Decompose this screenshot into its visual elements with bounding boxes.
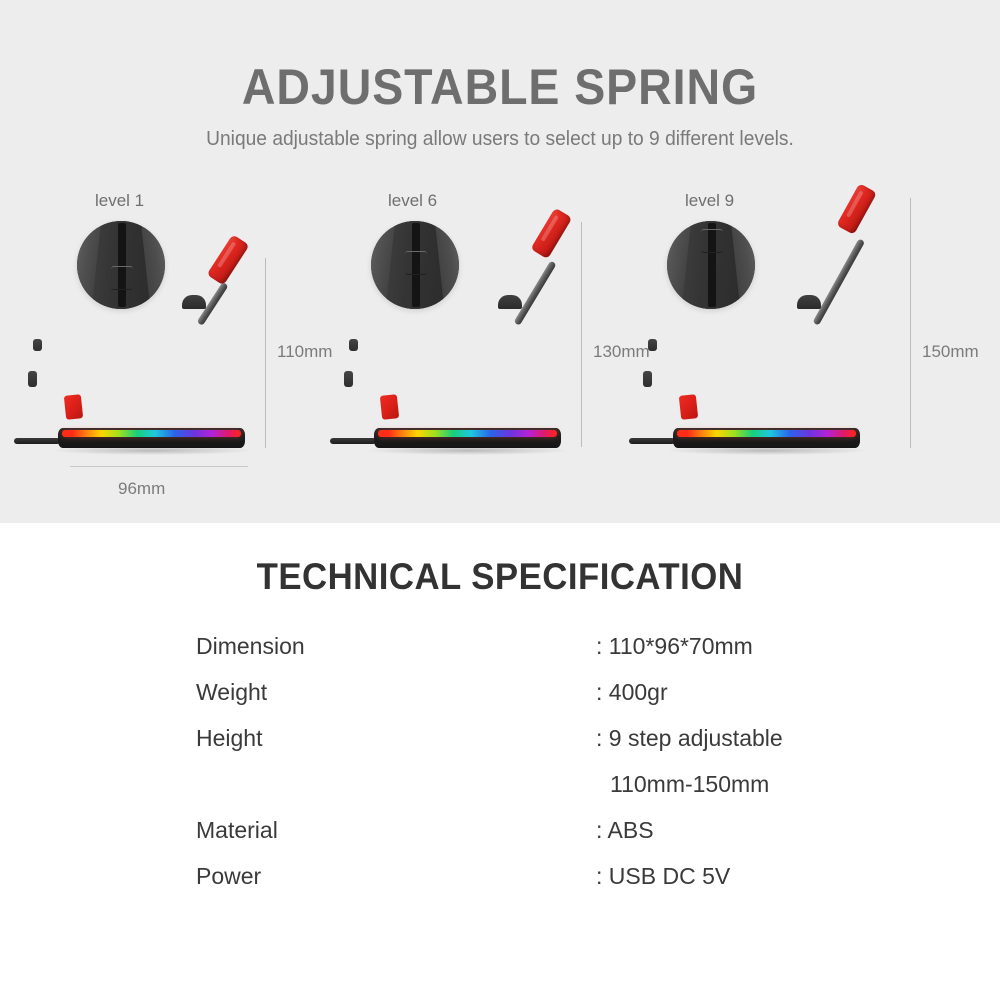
spec-value-dimension: : 110*96*70mm — [596, 633, 753, 660]
spec-row-height: Height : 9 step adjustable — [196, 725, 876, 771]
cone-tip-1 — [182, 295, 206, 309]
spec-section-title: TECHNICAL SPECIFICATION — [30, 556, 970, 598]
cone-tip-6 — [498, 295, 522, 309]
spring-detail-inset-6 — [371, 221, 459, 309]
spring-shaft-9 — [812, 238, 865, 325]
spec-row-power: Power : USB DC 5V — [196, 863, 876, 909]
spec-row-weight: Weight : 400gr — [196, 679, 876, 725]
spec-label-material: Material — [196, 817, 596, 844]
infographic-page: ADJUSTABLE SPRING Unique adjustable spri… — [0, 0, 1000, 1000]
spring-detail-inset-9 — [667, 221, 755, 309]
product-illustration-level-6: level 6 — [300, 0, 620, 523]
rgb-led-strip-6 — [378, 430, 557, 437]
red-tab-1 — [64, 394, 83, 420]
level-label-9: level 9 — [685, 191, 734, 211]
spec-value-height: : 9 step adjustable — [596, 725, 783, 752]
side-notch-upper-6 — [349, 339, 358, 351]
base-shadow-6 — [368, 446, 568, 455]
side-notch-6 — [344, 371, 353, 387]
usb-cable-9 — [629, 438, 675, 444]
level-label-6: level 6 — [388, 191, 437, 211]
width-dim-label-1: 96mm — [118, 479, 165, 499]
inset-slider-clip — [111, 266, 133, 290]
width-guide-line-1 — [70, 466, 248, 467]
rgb-led-strip-1 — [62, 430, 241, 437]
adjustable-spring-section: ADJUSTABLE SPRING Unique adjustable spri… — [0, 0, 1000, 523]
spec-value-weight: : 400gr — [596, 679, 668, 706]
spring-shaft-6 — [513, 260, 556, 325]
side-notch-9 — [643, 371, 652, 387]
side-notch-upper-9 — [648, 339, 657, 351]
cone-tip-9 — [797, 295, 821, 309]
spring-detail-inset-1 — [77, 221, 165, 309]
product-illustration-level-1: level 1 — [0, 0, 300, 523]
spec-label-power: Power — [196, 863, 596, 890]
inset-slider-clip — [405, 251, 427, 275]
red-tab-9 — [679, 394, 698, 420]
usb-cable-1 — [14, 438, 60, 444]
spec-value-material: : ABS — [596, 817, 654, 844]
spec-label-height: Height — [196, 725, 596, 752]
spec-value-height-range: 110mm-150mm — [596, 771, 769, 798]
red-tab-6 — [380, 394, 399, 420]
level-label-1: level 1 — [95, 191, 144, 211]
height-guide-line-9 — [910, 198, 911, 448]
spec-label-weight: Weight — [196, 679, 596, 706]
side-notch-upper-1 — [33, 339, 42, 351]
inset-slot — [118, 223, 126, 307]
inset-slider-clip — [701, 229, 723, 253]
spec-row-height-continuation: 110mm-150mm — [196, 771, 876, 817]
technical-specification-section: TECHNICAL SPECIFICATION Dimension : 110*… — [0, 523, 1000, 1000]
spec-table: Dimension : 110*96*70mm Weight : 400gr H… — [196, 633, 876, 909]
spec-row-dimension: Dimension : 110*96*70mm — [196, 633, 876, 679]
height-guide-line-1 — [265, 258, 266, 448]
height-dim-label-9: 150mm — [922, 342, 979, 362]
spring-red-cap-9 — [836, 183, 877, 235]
spec-row-material: Material : ABS — [196, 817, 876, 863]
spring-red-cap-1 — [207, 234, 250, 285]
rgb-led-strip-9 — [677, 430, 856, 437]
spec-label-dimension: Dimension — [196, 633, 596, 660]
spring-red-cap-6 — [530, 208, 572, 259]
base-shadow-9 — [667, 446, 867, 455]
height-guide-line-6 — [581, 222, 582, 447]
spec-value-power: : USB DC 5V — [596, 863, 730, 890]
side-notch-1 — [28, 371, 37, 387]
usb-cable-6 — [330, 438, 376, 444]
product-illustration-level-9: level 9 — [620, 0, 1000, 523]
base-shadow-1 — [52, 446, 252, 455]
